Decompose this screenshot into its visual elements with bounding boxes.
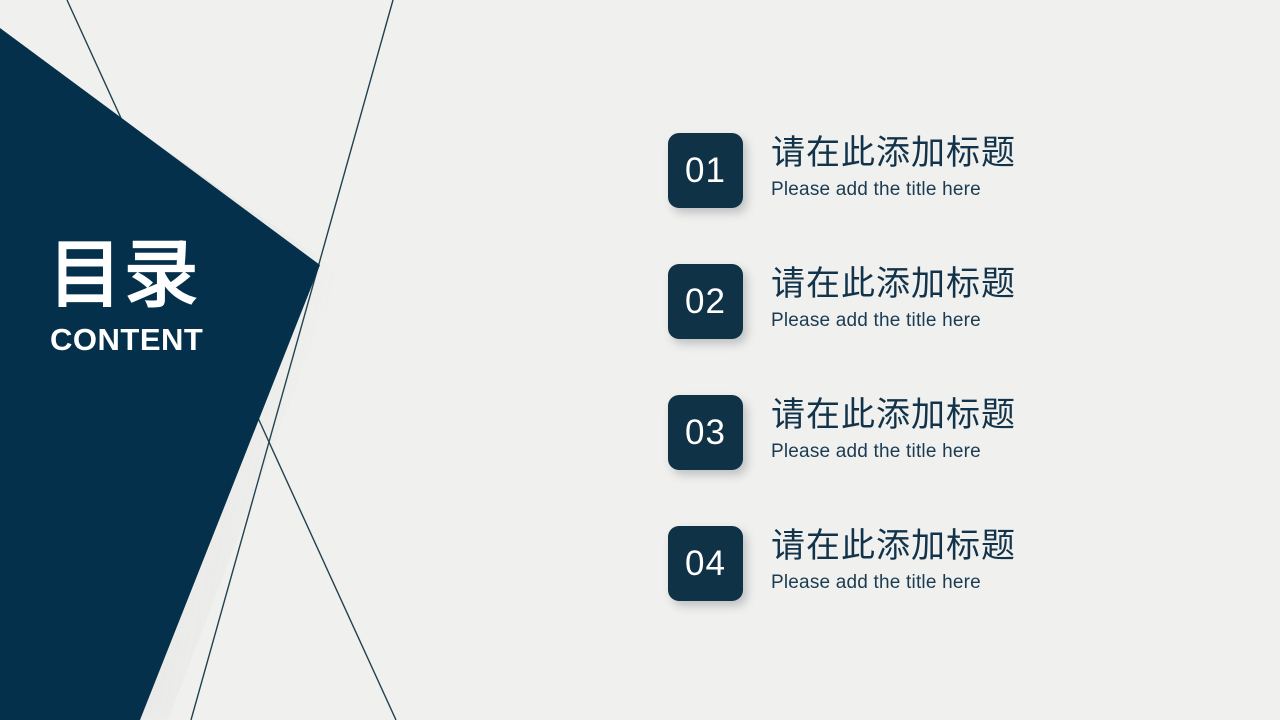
list-item[interactable]: 04 请在此添加标题 Please add the title here <box>668 526 1188 601</box>
item-number-badge[interactable]: 04 <box>668 526 743 601</box>
item-text-group: 请在此添加标题 Please add the title here <box>771 526 1016 595</box>
item-subtitle: Please add the title here <box>771 179 1016 202</box>
item-text-group: 请在此添加标题 Please add the title here <box>771 264 1016 333</box>
item-number-label: 01 <box>685 153 726 188</box>
item-title: 请在此添加标题 <box>771 396 1016 435</box>
item-text-group: 请在此添加标题 Please add the title here <box>771 395 1016 464</box>
list-item[interactable]: 01 请在此添加标题 Please add the title here <box>668 133 1188 208</box>
item-number-badge[interactable]: 02 <box>668 264 743 339</box>
item-title: 请在此添加标题 <box>771 265 1016 304</box>
item-number-badge[interactable]: 03 <box>668 395 743 470</box>
content-list: 01 请在此添加标题 Please add the title here 02 … <box>668 133 1188 601</box>
item-subtitle: Please add the title here <box>771 572 1016 595</box>
item-title: 请在此添加标题 <box>771 527 1016 566</box>
list-item[interactable]: 03 请在此添加标题 Please add the title here <box>668 395 1188 470</box>
page-title-en: CONTENT <box>50 322 328 358</box>
slide-canvas: 目录 CONTENT 01 请在此添加标题 Please add the tit… <box>0 0 1280 720</box>
item-subtitle: Please add the title here <box>771 441 1016 464</box>
page-title-cn: 目录 <box>48 238 328 312</box>
item-number-badge[interactable]: 01 <box>668 133 743 208</box>
item-title: 请在此添加标题 <box>771 134 1016 173</box>
item-text-group: 请在此添加标题 Please add the title here <box>771 133 1016 202</box>
item-subtitle: Please add the title here <box>771 310 1016 333</box>
section-title-group: 目录 CONTENT <box>48 238 328 358</box>
item-number-label: 02 <box>685 284 726 319</box>
item-number-label: 03 <box>685 415 726 450</box>
item-number-label: 04 <box>685 546 726 581</box>
list-item[interactable]: 02 请在此添加标题 Please add the title here <box>668 264 1188 339</box>
